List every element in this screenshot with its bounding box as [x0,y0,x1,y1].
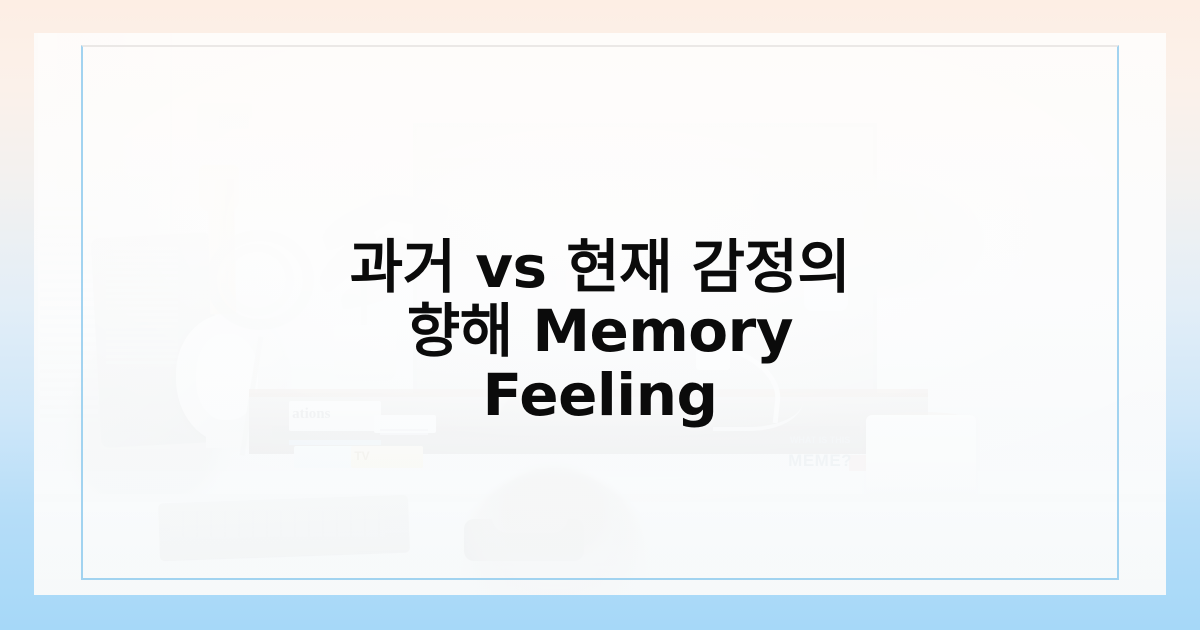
headline-line-2: 향해 Memory [120,299,1080,363]
headline-line-3: Feeling [120,363,1080,427]
headline-line-1: 과거 vs 현재 감정의 [120,235,1080,299]
page-title: 과거 vs 현재 감정의 향해 Memory Feeling [0,235,1200,427]
social-card: NETFLIX [0,0,1200,630]
